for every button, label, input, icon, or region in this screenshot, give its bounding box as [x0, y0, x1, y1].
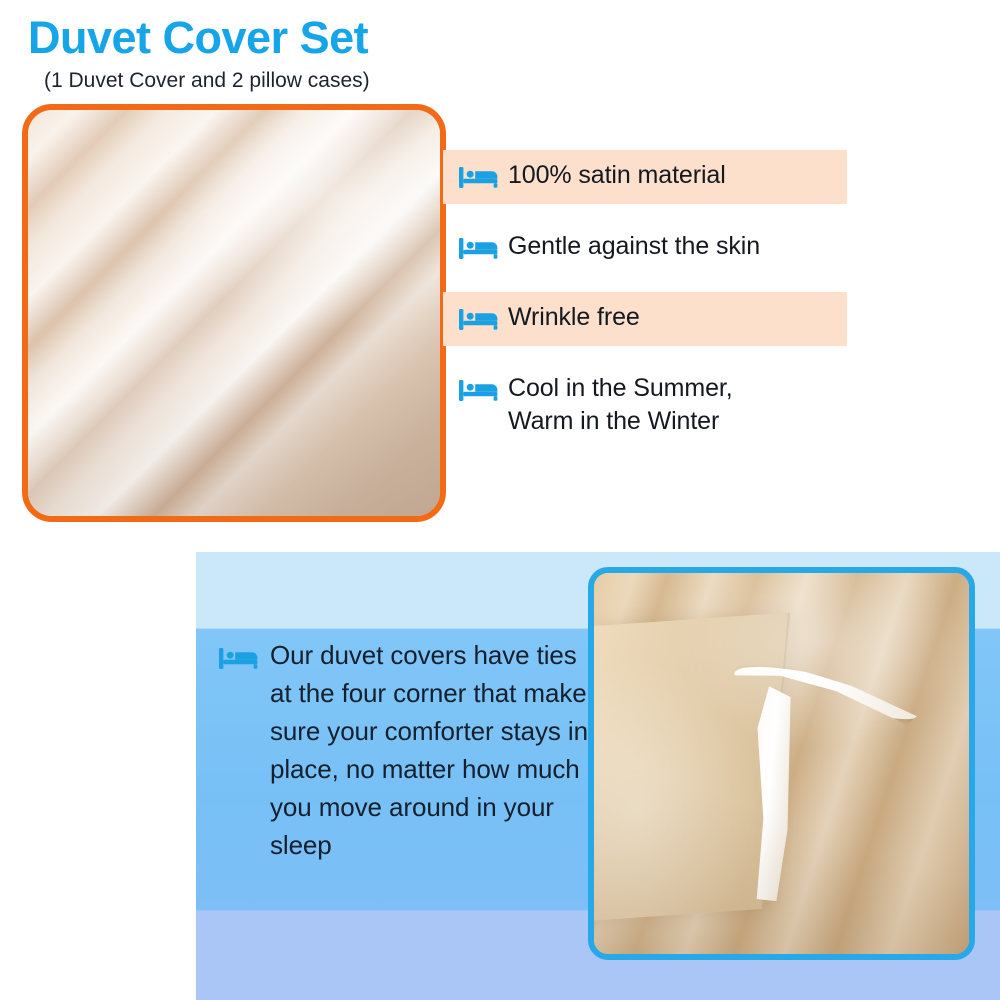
bed-icon: [458, 233, 500, 263]
page-title: Duvet Cover Set: [28, 15, 368, 60]
tie-fabric-sheen: [594, 573, 969, 954]
tie-description-label: Our duvet covers have ties at the four c…: [270, 637, 600, 865]
header: Duvet Cover Set (1 Duvet Cover and 2 pil…: [0, 0, 470, 105]
duvet-corner-tie-photo: [588, 567, 975, 960]
feature-spacer: [443, 275, 847, 292]
fabric-shadow: [28, 110, 440, 516]
feature-item-wrinkle-free: Wrinkle free: [443, 292, 847, 346]
bed-icon: [458, 375, 500, 405]
feature-list: 100% satin material Gentle against the s…: [443, 150, 847, 451]
page-subtitle: (1 Duvet Cover and 2 pillow cases): [44, 70, 370, 91]
feature-item-gentle-skin: Gentle against the skin: [443, 221, 847, 275]
bed-icon: [458, 304, 500, 334]
feature-spacer: [443, 204, 847, 221]
feature-item-label: 100% satin material: [508, 159, 726, 192]
feature-item-satin-material: 100% satin material: [443, 150, 847, 204]
feature-item-temperature: Cool in the Summer, Warm in the Winter: [443, 363, 847, 451]
tie-description-block: Our duvet covers have ties at the four c…: [218, 637, 600, 865]
feature-item-label: Cool in the Summer, Warm in the Winter: [508, 372, 733, 438]
bed-icon: [218, 643, 260, 673]
feature-item-label: Wrinkle free: [508, 301, 640, 334]
bed-icon: [458, 162, 500, 192]
feature-spacer: [443, 346, 847, 363]
satin-fabric-photo: [22, 104, 446, 522]
feature-item-label: Gentle against the skin: [508, 230, 760, 263]
tie-feature-panel: Our duvet covers have ties at the four c…: [196, 552, 1000, 1000]
